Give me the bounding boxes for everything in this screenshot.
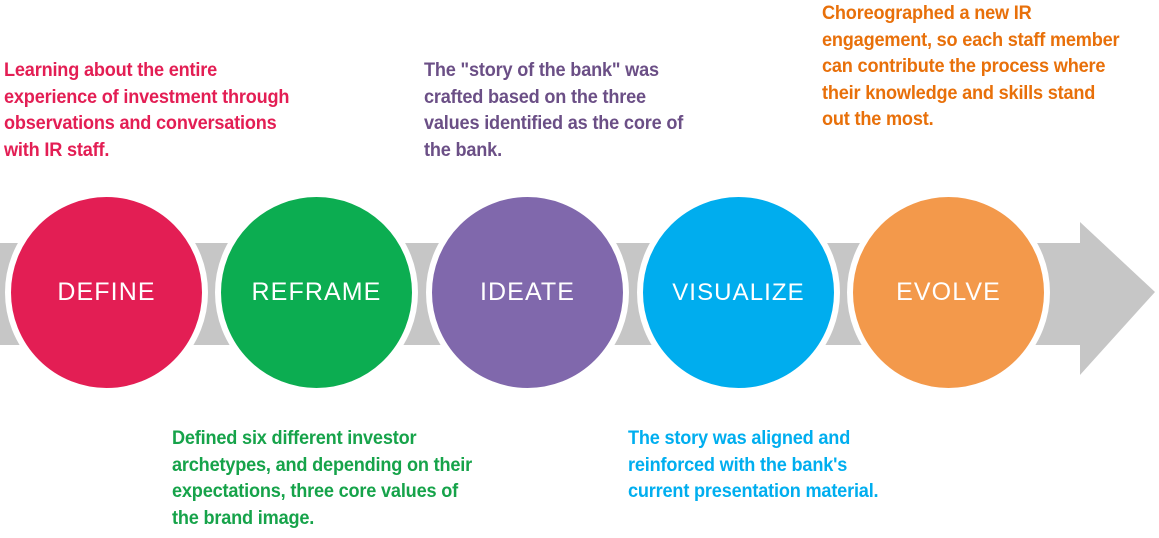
annotation-define: Learning about the entire experience of … xyxy=(4,57,311,163)
stage-circle-reframe[interactable]: REFRAME xyxy=(215,191,418,394)
stage-label-reframe: REFRAME xyxy=(252,280,382,305)
stage-circle-visualize[interactable]: VISUALIZE xyxy=(637,191,840,394)
stage-label-evolve: EVOLVE xyxy=(896,280,1001,305)
annotation-ideate: The "story of the bank" was crafted base… xyxy=(424,57,703,163)
stage-circle-define[interactable]: DEFINE xyxy=(5,191,208,394)
stage-label-define: DEFINE xyxy=(57,280,155,305)
stage-circle-ideate[interactable]: IDEATE xyxy=(426,191,629,394)
process-diagram: DEFINE REFRAME IDEATE VISUALIZE EVOLVE L… xyxy=(0,0,1159,538)
annotation-evolve: Choreographed a new IR engagement, so ea… xyxy=(822,0,1120,133)
stage-circle-evolve[interactable]: EVOLVE xyxy=(847,191,1050,394)
stage-label-visualize: VISUALIZE xyxy=(672,281,805,305)
stage-label-ideate: IDEATE xyxy=(480,280,575,305)
annotation-visualize: The story was aligned and reinforced wit… xyxy=(628,425,907,505)
annotation-reframe: Defined six different investor archetype… xyxy=(172,425,479,531)
